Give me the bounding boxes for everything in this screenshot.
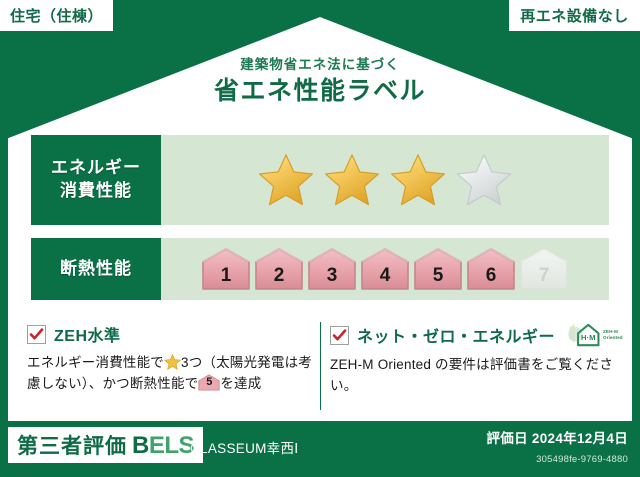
footer: 第三者評価 BELS CLASSEUM幸西Ⅰ 評価日 2024年12月4日 30… [0,421,640,477]
insulation-grade-active: 4 [360,247,410,291]
badge-renewable-equipment: 再エネ設備なし [509,0,640,31]
energy-performance-label: 住宅（住棟） 再エネ設備なし 建築物省エネ法に基づく 省エネ性能ラベル エネルギ… [0,0,640,477]
rating-value-energy-consumption [161,135,609,225]
inline-star-icon [164,354,181,370]
rating-value-insulation: 1234567 [161,238,609,300]
insulation-grade-number: 7 [519,265,569,287]
star-rating [258,153,512,207]
badge-building-type: 住宅（住棟） [0,0,113,31]
insulation-grade-active: 1 [201,247,251,291]
zeh-m-logo-line2: Oriented [603,335,623,340]
inline-grade-house-icon: 5 [198,374,220,391]
insulation-grade-number: 6 [466,265,516,287]
bels-wordmark-els: ELS [149,432,194,459]
zeh-m-logo-line1: ZEH-M [603,329,618,334]
insulation-grade-number: 4 [360,265,410,287]
checkbox-zeh-standard[interactable] [27,325,46,344]
bels-label-text: 第三者評価 [17,430,127,460]
note-zeh-text-2: 3つ（太陽光発電 [181,355,285,370]
zeh-m-mark-text: H·M [581,333,595,342]
rating-row-energy-consumption: エネルギー 消費性能 [31,135,609,225]
rating-label-energy-line2: 消費性能 [60,180,132,203]
bels-wordmark: BELS [132,432,194,460]
bels-certification-mark: 第三者評価 BELS [8,427,203,463]
star-filled-icon [390,153,446,207]
zeh-m-logo-caption: ZEH-M Oriented [603,329,623,340]
insulation-grade-inactive: 7 [519,247,569,291]
zeh-m-house-icon: H·M [567,322,601,348]
insulation-grade-scale: 1234567 [201,247,569,291]
note-zeh-standard: ZEH水準 エネルギー消費性能で3つ（太陽光発電は考慮しない）、かつ断熱性能で5… [27,322,313,395]
check-icon [332,328,347,343]
badge-building-type-text: 住宅（住棟） [10,5,103,26]
check-icon [29,327,44,342]
bels-wordmark-b: B [132,432,149,459]
rating-label-energy-consumption: エネルギー 消費性能 [31,135,161,225]
insulation-grade-number: 5 [413,265,463,287]
star-empty-icon [456,153,512,207]
evaluation-date: 評価日 2024年12月4日 [486,427,628,447]
building-name: CLASSEUM幸西Ⅰ [190,437,299,457]
note-net-zero-energy: ネット・ゼロ・エネルギー H·M ZEH-M Oriented ZEH-M Or… [330,322,620,397]
title-block: 建築物省エネ法に基づく 省エネ性能ラベル [0,57,640,106]
note-zeh-standard-title: ZEH水準 [54,322,121,346]
star-filled-icon [324,153,380,207]
note-net-zero-energy-body: ZEH-M Oriented の要件は評価書をご覧ください。 [330,355,620,397]
rating-row-insulation: 断熱性能 1234567 [31,238,609,300]
zeh-m-oriented-logo: H·M ZEH-M Oriented [567,322,623,348]
evaluation-id: 305498fe-9769-4880 [536,454,628,465]
note-net-zero-energy-header: ネット・ゼロ・エネルギー H·M ZEH-M Oriented [330,322,620,348]
note-divider [320,322,321,410]
insulation-grade-active: 3 [307,247,357,291]
inline-grade-house-number: 5 [198,374,220,391]
insulation-grade-number: 1 [201,265,251,287]
page-title: 省エネ性能ラベル [0,78,640,106]
insulation-grade-active: 5 [413,247,463,291]
insulation-grade-active: 6 [466,247,516,291]
title-subtitle: 建築物省エネ法に基づく [0,57,640,73]
insulation-grade-active: 2 [254,247,304,291]
note-zeh-standard-header: ZEH水準 [27,322,313,346]
checkbox-net-zero-energy[interactable] [330,326,349,345]
note-zeh-text-4: を達成 [220,376,261,391]
note-net-zero-energy-title: ネット・ゼロ・エネルギー [357,323,555,347]
note-zeh-text-1: エネルギー消費性能で [27,355,164,370]
star-filled-icon [258,153,314,207]
insulation-grade-number: 2 [254,265,304,287]
rating-label-insulation: 断熱性能 [31,238,161,300]
insulation-grade-number: 3 [307,265,357,287]
rating-label-insulation-line1: 断熱性能 [60,258,132,281]
rating-label-energy-line1: エネルギー [51,157,141,180]
badge-renewable-equipment-text: 再エネ設備なし [520,5,629,26]
note-zeh-standard-body: エネルギー消費性能で3つ（太陽光発電は考慮しない）、かつ断熱性能で5を達成 [27,353,313,395]
